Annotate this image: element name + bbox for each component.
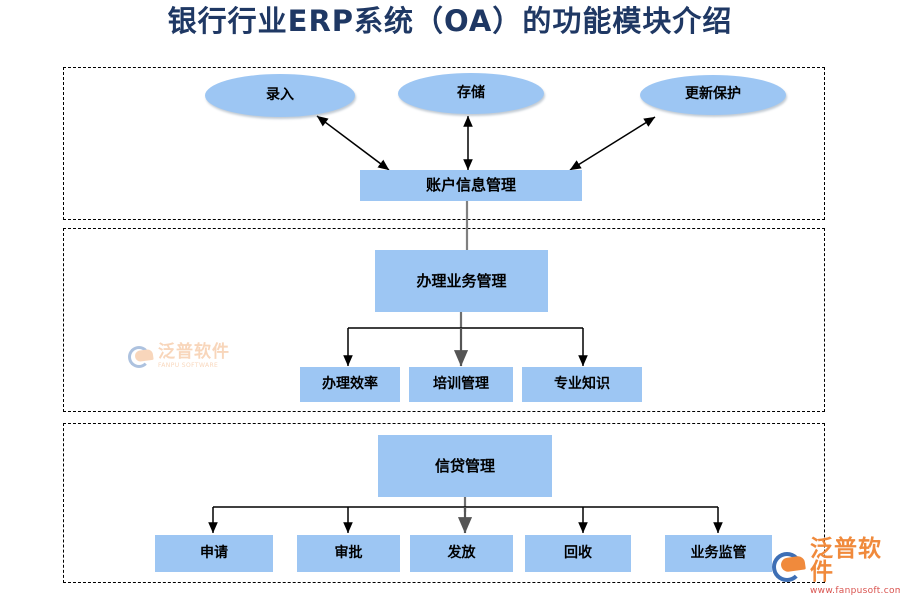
node-account-info-management-label: 账户信息管理 — [426, 177, 516, 194]
node-gengxinbaohu-label: 更新保护 — [685, 87, 741, 102]
node-luru[interactable]: 录入 — [205, 74, 355, 117]
node-disbursement[interactable]: 发放 — [410, 535, 513, 572]
node-approval[interactable]: 审批 — [297, 535, 400, 572]
diagram-canvas: 银行行业ERP系统（OA）的功能模块介绍 — [0, 0, 900, 600]
node-business-handling-management-label: 办理业务管理 — [416, 273, 506, 290]
node-professional-knowledge-label: 专业知识 — [554, 377, 610, 392]
node-approval-label: 审批 — [335, 546, 363, 561]
node-recovery-label: 回收 — [564, 546, 592, 561]
node-disbursement-label: 发放 — [448, 546, 476, 561]
node-cunchu-label: 存储 — [457, 86, 485, 101]
node-business-handling-management[interactable]: 办理业务管理 — [375, 250, 548, 312]
node-cunchu[interactable]: 存储 — [398, 73, 544, 114]
node-credit-management-label: 信贷管理 — [435, 458, 495, 475]
node-handling-efficiency[interactable]: 办理效率 — [300, 367, 400, 402]
node-training-management-label: 培训管理 — [433, 377, 489, 392]
node-luru-label: 录入 — [266, 88, 294, 103]
page-title: 银行行业ERP系统（OA）的功能模块介绍 — [0, 2, 900, 40]
node-gengxinbaohu[interactable]: 更新保护 — [640, 75, 786, 115]
brand-url: www.fanpusoft.com — [810, 587, 900, 596]
node-handling-efficiency-label: 办理效率 — [322, 377, 378, 392]
node-account-info-management[interactable]: 账户信息管理 — [360, 170, 582, 201]
node-credit-management[interactable]: 信贷管理 — [378, 435, 552, 497]
node-recovery[interactable]: 回收 — [525, 535, 631, 572]
node-application-label: 申请 — [200, 546, 228, 561]
node-business-supervision-label: 业务监管 — [691, 546, 747, 561]
node-professional-knowledge[interactable]: 专业知识 — [522, 367, 642, 402]
node-application[interactable]: 申请 — [155, 535, 273, 572]
node-business-supervision[interactable]: 业务监管 — [665, 535, 772, 572]
node-training-management[interactable]: 培训管理 — [409, 367, 513, 402]
